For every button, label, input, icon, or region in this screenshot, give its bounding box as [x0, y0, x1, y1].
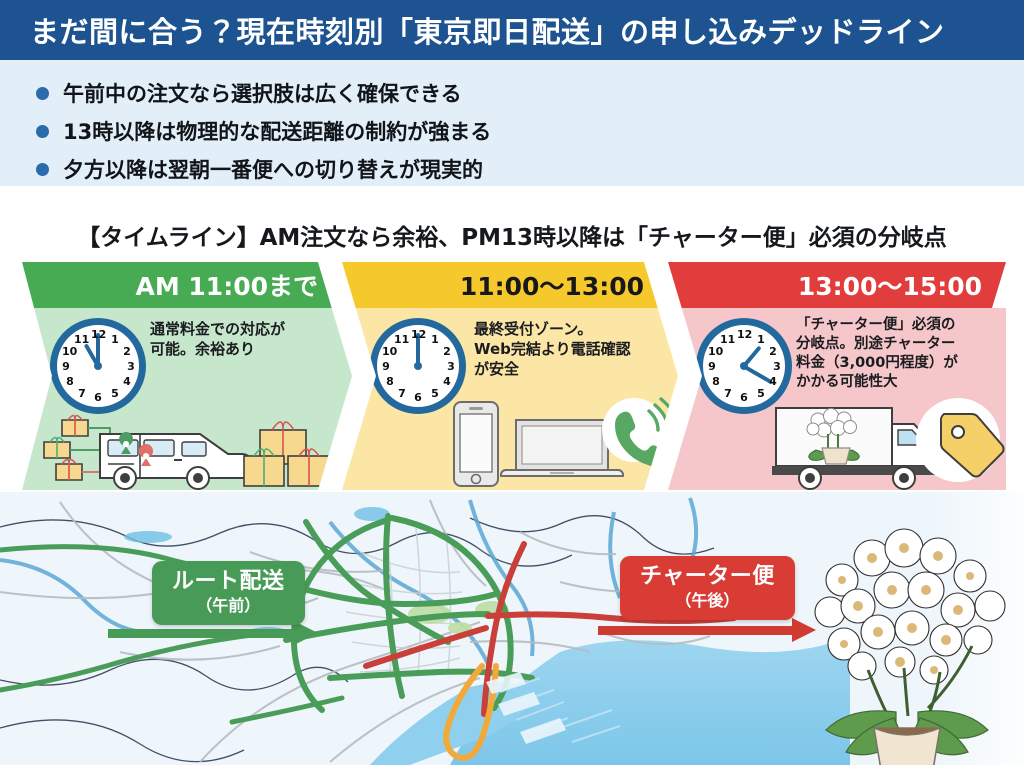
bullet-dot-icon [36, 125, 49, 138]
panel-header-afternoon: 13:00〜15:00 [668, 262, 1006, 308]
map-label-line2: （午前） [172, 597, 285, 615]
tokyo-delivery-map: ルート配送 （午前） チャーター便 （午後） [0, 492, 1024, 765]
charter-truck-and-price-tag-illustration [668, 394, 1006, 490]
panel-description: 通常料金での対応が 可能。余裕あり [150, 320, 285, 360]
panel-time-label: 11:00〜13:00 [460, 267, 644, 303]
panel-time-label: 13:00〜15:00 [798, 267, 982, 303]
panel-header-am: AM 11:00まで [22, 262, 352, 308]
orchid-plant-illustration [800, 520, 1020, 765]
panel-body-midday: 最終受付ゾーン。 Web完結より電話確認 が安全 12 1 2 3 4 5 6 … [342, 308, 678, 490]
list-item: 夕方以降は翌朝一番便への切り替えが現実的 [36, 152, 1024, 186]
map-label-line1: チャーター便 [640, 565, 775, 590]
key-points-band: 午前中の注文なら選択肢は広く確保できる 13時以降は物理的な配送距離の制約が強ま… [0, 60, 1024, 186]
panel-header-midday: 11:00〜13:00 [342, 262, 678, 308]
map-label-charter-delivery: チャーター便 （午後） [620, 556, 795, 620]
map-label-line2: （午後） [640, 592, 775, 610]
header-bar: まだ間に合う？現在時刻別「東京即日配送」の申し込みデッドライン [0, 0, 1024, 60]
infographic-page: まだ間に合う？現在時刻別「東京即日配送」の申し込みデッドライン 午前中の注文なら… [0, 0, 1024, 765]
delivery-van-and-gifts-illustration [22, 394, 352, 490]
bullet-dot-icon [36, 87, 49, 100]
timeline-panel-afternoon: 13:00〜15:00 「チャーター便」必須の 分岐点。別途チャーター 料金（3… [668, 262, 1006, 490]
bullet-text: 午前中の注文なら選択肢は広く確保できる [63, 78, 462, 108]
timeline-panel-am: AM 11:00まで 通常料金での対応が 可能。余裕あり 12 1 2 3 4 … [22, 262, 352, 490]
charter-delivery-arrow [598, 626, 816, 635]
page-title: まだ間に合う？現在時刻別「東京即日配送」の申し込みデッドライン [0, 9, 945, 51]
phone-call-icon [602, 398, 678, 466]
panel-description: 「チャーター便」必須の 分岐点。別途チャーター 料金（3,000円程度）が かか… [796, 316, 958, 393]
list-item: 午前中の注文なら選択肢は広く確保できる [36, 76, 1024, 110]
smartphone-icon [454, 402, 498, 486]
map-label-line1: ルート配送 [172, 570, 285, 595]
timeline-panel-midday: 11:00〜13:00 最終受付ゾーン。 Web完結より電話確認 が安全 12 … [342, 262, 678, 490]
panel-body-afternoon: 「チャーター便」必須の 分岐点。別途チャーター 料金（3,000円程度）が かか… [668, 308, 1006, 490]
truck-icon [772, 408, 938, 489]
bullet-text: 13時以降は物理的な配送距離の制約が強まる [63, 116, 491, 146]
list-item: 13時以降は物理的な配送距離の制約が強まる [36, 114, 1024, 148]
panel-body-am: 通常料金での対応が 可能。余裕あり 12 1 2 3 4 5 6 7 8 9 [22, 308, 352, 490]
map-label-route-delivery: ルート配送 （午前） [152, 561, 305, 625]
price-tag-icon [916, 398, 1004, 482]
devices-and-phone-call-illustration [342, 394, 678, 490]
route-delivery-arrow [108, 629, 318, 638]
timeline-panels: AM 11:00まで 通常料金での対応が 可能。余裕あり 12 1 2 3 4 … [22, 262, 1006, 490]
panel-time-label: AM 11:00まで [135, 267, 318, 303]
bullet-dot-icon [36, 163, 49, 176]
panel-description: 最終受付ゾーン。 Web完結より電話確認 が安全 [474, 320, 631, 379]
timeline-heading: 【タイムライン】AM注文なら余裕、PM13時以降は「チャーター便」必須の分岐点 [0, 218, 1024, 252]
bullet-text: 夕方以降は翌朝一番便への切り替えが現実的 [63, 154, 483, 184]
